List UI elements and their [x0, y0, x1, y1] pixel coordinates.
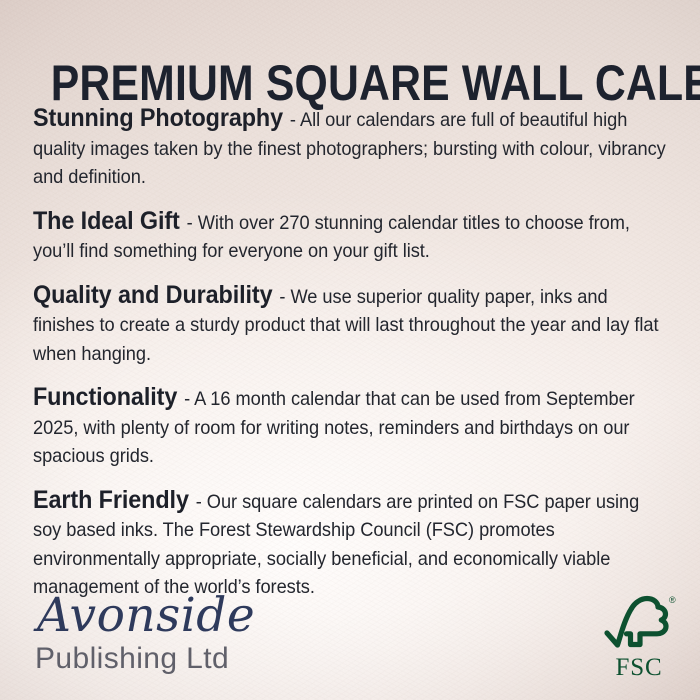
feature-heading: Quality and Durability: [33, 281, 274, 309]
feature-dash: -: [182, 212, 198, 234]
feature-heading: Earth Friendly: [33, 486, 191, 514]
fsc-certification-logo: ® FSC: [600, 592, 678, 684]
brand-name: Avonside: [33, 592, 363, 640]
feature-list: Stunning Photography - All our calendars…: [33, 104, 667, 602]
feature-paragraph: Functionality - A 16 month calendar that…: [33, 383, 667, 471]
feature-item-functionality: Functionality - A 16 month calendar that…: [33, 383, 667, 471]
feature-dash: -: [191, 491, 207, 513]
feature-item-quality-and-durability: Quality and Durability - We use superior…: [33, 281, 667, 369]
feature-paragraph: The Ideal Gift - With over 270 stunning …: [33, 207, 667, 266]
product-info-panel: PREMIUM SQUARE WALL CALENDARS Stunning P…: [0, 0, 700, 700]
feature-item-earth-friendly: Earth Friendly - Our square calendars ar…: [33, 486, 667, 602]
registered-trademark-symbol: ®: [669, 595, 676, 605]
feature-dash: -: [274, 286, 290, 308]
fsc-tree-checkmark-icon: ®: [600, 592, 678, 656]
feature-paragraph: Stunning Photography - All our calendars…: [33, 104, 667, 192]
feature-heading: Stunning Photography: [33, 104, 285, 132]
feature-heading: Functionality: [33, 383, 179, 411]
page-title: PREMIUM SQUARE WALL CALENDARS: [51, 57, 650, 109]
fsc-label: FSC: [600, 655, 678, 681]
content-area: PREMIUM SQUARE WALL CALENDARS Stunning P…: [0, 0, 700, 700]
feature-dash: -: [179, 388, 194, 410]
feature-dash: -: [285, 109, 300, 131]
feature-item-stunning-photography: Stunning Photography - All our calendars…: [33, 104, 667, 192]
brand-subtitle: Publishing Ltd: [33, 643, 363, 675]
feature-paragraph: Earth Friendly - Our square calendars ar…: [33, 486, 667, 602]
feature-item-the-ideal-gift: The Ideal Gift - With over 270 stunning …: [33, 207, 667, 266]
feature-paragraph: Quality and Durability - We use superior…: [33, 281, 667, 369]
brand-logo: Avonside Publishing Ltd: [33, 592, 363, 675]
feature-heading: The Ideal Gift: [33, 207, 182, 235]
